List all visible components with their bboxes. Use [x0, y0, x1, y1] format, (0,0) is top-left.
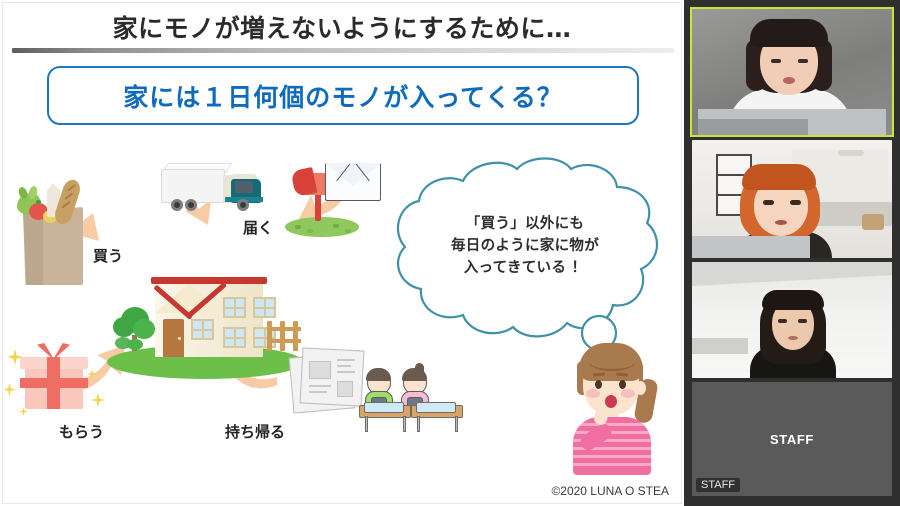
newspapers-illustration	[287, 345, 369, 415]
participant-display-name: STAFF	[770, 432, 814, 447]
bubble-line-2: 毎日のように家に物が	[385, 235, 665, 257]
envelope-icon	[325, 163, 381, 201]
video-tile-participant-2[interactable]	[692, 140, 892, 258]
sparkle-icon	[87, 369, 97, 379]
title-divider	[12, 48, 674, 53]
students-at-desks-illustration	[359, 361, 479, 431]
copyright-text: ©2020 LUNA O STEA	[551, 484, 669, 498]
slide-title-text: 家にモノが増えないようにするために…	[113, 9, 572, 45]
thinking-girl-illustration	[561, 333, 665, 483]
slide-title: 家にモノが増えないようにするために…	[3, 5, 681, 49]
delivery-truck-illustration	[161, 161, 271, 217]
thought-bubble-text: 「買う」以外にも 毎日のように家に物が 入ってきている ！	[385, 213, 665, 279]
gift-box-illustration	[17, 345, 97, 417]
label-receive: もらう	[59, 421, 104, 442]
label-deliver: 届く	[243, 217, 273, 238]
sparkle-icon	[3, 383, 16, 396]
flow-diagram: 買う 届く	[3, 133, 681, 503]
video-tile-participant-4[interactable]: STAFF STAFF	[692, 382, 892, 496]
video-participants-panel: STAFF STAFF	[684, 0, 900, 506]
slide-canvas: 家にモノが増えないようにするために… 家には１日何個のモノが入ってくる？	[2, 2, 682, 504]
grocery-bag-illustration	[11, 179, 103, 295]
screen-root: 家にモノが増えないようにするために… 家には１日何個のモノが入ってくる？	[0, 0, 900, 506]
label-bring-home: 持ち帰る	[225, 421, 285, 442]
video-tile-participant-3[interactable]	[692, 262, 892, 378]
house-illustration	[107, 257, 307, 381]
question-callout-box: 家には１日何個のモノが入ってくる？	[47, 66, 639, 125]
bubble-line-3: 入ってきている ！	[385, 257, 665, 279]
question-callout-text: 家には１日何個のモノが入ってくる？	[123, 78, 563, 114]
presentation-slide: 家にモノが増えないようにするために… 家には１日何個のモノが入ってくる？	[0, 0, 684, 506]
bubble-line-1: 「買う」以外にも	[385, 213, 665, 235]
video-tile-participant-1[interactable]	[692, 9, 892, 135]
participant-name-badge: STAFF	[696, 478, 740, 492]
